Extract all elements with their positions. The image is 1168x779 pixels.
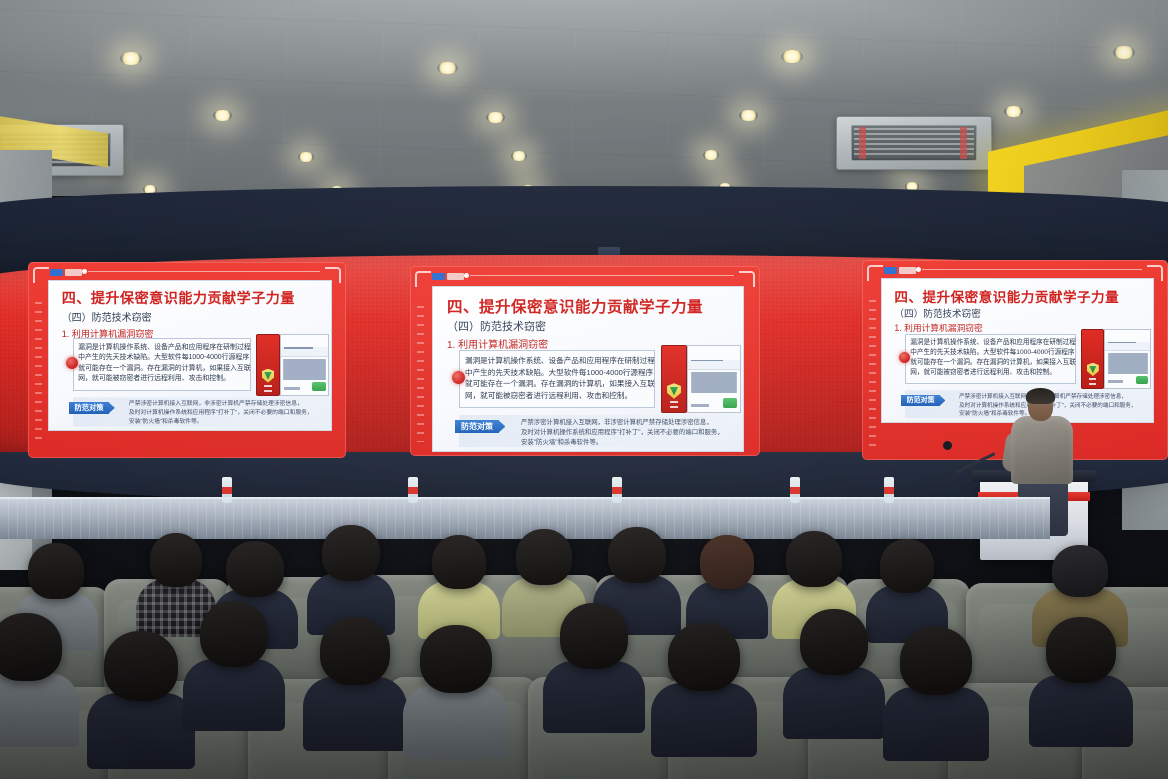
poster-text-lines — [1089, 378, 1096, 385]
security-shield-poster — [661, 345, 687, 413]
audience-seating — [0, 505, 1168, 779]
poster-text-lines — [264, 385, 271, 392]
audience-member-head — [0, 613, 62, 681]
slide-body-line: 网，就可能被窃密者进行远程利用、攻击和控制。 — [465, 390, 649, 402]
scan-result-row — [1108, 371, 1149, 374]
window-titlebar — [1105, 342, 1150, 351]
audience-member-head — [700, 535, 754, 589]
recessed-downlight-icon — [739, 110, 758, 121]
window-link[interactable] — [691, 404, 709, 407]
audience-member-head — [900, 627, 972, 695]
audience-member-head — [668, 623, 740, 691]
panel-corner-bracket — [739, 271, 755, 287]
panel-corner-bracket — [33, 267, 49, 283]
slide-panel-center: 四、提升保密意识能力贡献学子力量（四）防范技术窃密1. 利用计算机漏洞窃密漏洞是… — [410, 266, 760, 456]
lecture-hall-scene: 四、提升保密意识能力贡献学子力量（四）防范技术窃密1. 利用计算机漏洞窃密漏洞是… — [0, 0, 1168, 779]
presenter-torso — [1011, 416, 1073, 484]
countermeasure-line: 安装"防火墙"和杀毒软件等。 — [521, 438, 733, 448]
window-titlebar — [688, 360, 740, 371]
countermeasure-tag: 防范对策 — [455, 420, 499, 433]
audience-member-head — [200, 601, 268, 667]
window-titlebar — [281, 347, 328, 357]
slide-section-heading: 1. 利用计算机漏洞窃密 — [447, 336, 548, 351]
audience-member-head — [104, 631, 178, 701]
recessed-downlight-icon — [120, 52, 142, 65]
fix-now-button[interactable] — [312, 382, 325, 391]
audience-member-torso — [883, 687, 989, 761]
water-bottle — [790, 477, 800, 503]
fix-now-button[interactable] — [723, 398, 738, 408]
panel-side-ticks — [417, 306, 424, 442]
scan-result-row — [283, 377, 325, 380]
countermeasure-band: 严禁涉密计算机接入互联网，非涉密计算机严禁存储处理涉密信息，及时对计算机操作系统… — [459, 415, 739, 447]
recessed-downlight-icon — [437, 62, 458, 74]
slide-body-box: 漏洞是计算机操作系统、设备产品和应用程序在研制过程中产生的先天技术缺陷。大型软件… — [905, 334, 1076, 385]
slide-body-line: 漏洞是计算机操作系统、设备产品和应用程序在研制过程 — [910, 338, 1071, 348]
scan-result-list — [688, 370, 740, 395]
water-bottle — [884, 477, 894, 503]
audience-member-head — [880, 539, 934, 593]
slide-body-line: 网，就可能被窃密者进行远程利用、攻击和控制。 — [78, 374, 245, 384]
fix-now-button[interactable] — [1136, 376, 1149, 385]
panel-badge — [884, 266, 916, 275]
audience-member-head — [322, 525, 380, 581]
slide-body-line: 网，就可能被窃密者进行远程利用、攻击和控制。 — [910, 368, 1071, 378]
presentation-slide: 四、提升保密意识能力贡献学子力量（四）防范技术窃密1. 利用计算机漏洞窃密漏洞是… — [48, 280, 332, 431]
audience-member-torso — [87, 693, 195, 769]
slide-bullet-dot — [452, 371, 465, 384]
audience-member-torso — [783, 667, 885, 739]
window-link[interactable] — [1108, 380, 1123, 383]
security-shield-poster — [256, 334, 280, 396]
recessed-downlight-icon — [511, 151, 527, 161]
slide-body-line: 就可能存在一个漏洞。存在漏洞的计算机，如果接入互联 — [910, 358, 1071, 368]
panel-badge — [432, 272, 464, 281]
audience-member-torso — [543, 661, 645, 733]
slide-panel-left: 四、提升保密意识能力贡献学子力量（四）防范技术窃密1. 利用计算机漏洞窃密漏洞是… — [28, 262, 346, 458]
microphone-capsule-icon — [943, 441, 952, 450]
water-bottle — [222, 477, 232, 503]
recessed-downlight-icon — [213, 110, 232, 121]
panel-side-ticks — [35, 302, 42, 444]
scan-result-row — [691, 390, 738, 393]
presentation-slide: 四、提升保密意识能力贡献学子力量（四）防范技术窃密1. 利用计算机漏洞窃密漏洞是… — [881, 278, 1154, 423]
poster-text-lines — [670, 401, 678, 408]
panel-rule — [470, 275, 734, 276]
audience-member-head — [560, 603, 628, 669]
recessed-downlight-icon — [1113, 46, 1135, 59]
audience-member-head — [150, 533, 202, 587]
vulnerability-scan-window — [1104, 329, 1151, 389]
slide-body-box: 漏洞是计算机操作系统、设备产品和应用程序在研制过程中产生的先天技术缺陷。大型软件… — [459, 350, 655, 408]
scan-result-list — [1105, 351, 1150, 376]
slide-body-line: 中产生的先天技术缺陷。大型软件每1000-4000行源程序 — [910, 348, 1071, 358]
recessed-downlight-icon — [1004, 106, 1023, 117]
window-link[interactable] — [284, 387, 300, 390]
shield-icon — [667, 383, 681, 399]
countermeasure-line: 及时对计算机操作系统和应用程序"打补丁"，关闭不必要的端口和服务， — [521, 428, 733, 438]
audience-member-head — [1046, 617, 1116, 683]
security-shield-poster — [1081, 329, 1104, 389]
countermeasure-band: 严禁涉密计算机接入互联网，非涉密计算机严禁存储处理涉密信息，及时对计算机操作系统… — [73, 397, 327, 426]
slide-body-line: 就可能存在一个漏洞。存在漏洞的计算机，如果接入互联 — [78, 364, 245, 374]
audience-member-torso — [403, 685, 509, 759]
scan-result-list — [281, 357, 328, 382]
vulnerability-scan-window — [687, 345, 741, 413]
slide-body-line: 就可能存在一个漏洞。存在漏洞的计算机，如果接入互联 — [465, 378, 649, 390]
shield-icon — [1087, 363, 1099, 376]
audience-member-head — [786, 531, 842, 587]
panel-side-ticks — [869, 300, 876, 446]
audience-member-head — [1052, 545, 1108, 597]
water-bottle — [408, 477, 418, 503]
shield-icon — [262, 369, 275, 383]
slide-subtitle: （四）防范技术窃密 — [894, 306, 981, 320]
audience-member-torso — [183, 659, 285, 731]
audience-member-head — [226, 541, 284, 597]
audience-member-torso — [303, 677, 407, 751]
recessed-downlight-icon — [298, 152, 314, 162]
slide-title: 四、提升保密意识能力贡献学子力量 — [62, 288, 295, 308]
slide-body-line: 中产生的先天技术缺陷。大型软件每1000-4000行源程序 — [465, 367, 649, 379]
audience-member-head — [420, 625, 492, 693]
slide-body-line: 漏洞是计算机操作系统、设备产品和应用程序在研制过程 — [78, 343, 245, 353]
audience-member-head — [432, 535, 486, 589]
panel-corner-bracket — [415, 271, 431, 287]
slide-subtitle: （四）防范技术窃密 — [447, 318, 546, 334]
slide-title: 四、提升保密意识能力贡献学子力量 — [894, 286, 1119, 306]
audience-member-torso — [651, 683, 757, 757]
ceiling-ac-vent — [836, 116, 992, 170]
slide-body-box: 漏洞是计算机操作系统、设备产品和应用程序在研制过程中产生的先天技术缺陷。大型软件… — [73, 338, 251, 391]
recessed-downlight-icon — [486, 112, 505, 123]
slide-body-line: 漏洞是计算机操作系统、设备产品和应用程序在研制过程 — [465, 355, 649, 367]
panel-rule — [922, 269, 1142, 270]
audience-member-head — [516, 529, 572, 585]
vulnerability-scan-window — [280, 334, 329, 396]
audience-member-head — [800, 609, 868, 675]
recessed-downlight-icon — [703, 150, 719, 160]
audience-member-head — [28, 543, 84, 599]
slide-body-line: 中产生的先天技术缺陷。大型软件每1000-4000行源程序 — [78, 353, 245, 363]
countermeasure-line: 及时对计算机操作系统和应用程序"打补丁"，关闭不必要的端口和服务， — [129, 409, 322, 418]
countermeasure-line: 严禁涉密计算机接入互联网，非涉密计算机严禁存储处理涉密信息， — [521, 418, 733, 428]
vent-indicator — [859, 127, 866, 158]
slide-section-heading: 1. 利用计算机漏洞窃密 — [894, 321, 982, 334]
slide-subtitle: （四）防范技术窃密 — [62, 309, 152, 324]
countermeasure-tag: 防范对策 — [69, 402, 109, 414]
countermeasure-line: 严禁涉密计算机接入互联网，非涉密计算机严禁存储处理涉密信息， — [129, 400, 322, 409]
panel-rule — [88, 271, 320, 272]
water-bottle — [612, 477, 622, 503]
audience-member-head — [320, 617, 390, 685]
presenter-hair — [1026, 388, 1055, 404]
audience-member-head — [608, 527, 666, 583]
vent-indicator — [960, 127, 967, 158]
audience-member-torso — [1029, 675, 1133, 747]
panel-badge — [50, 268, 82, 277]
recessed-downlight-icon — [781, 50, 803, 63]
countermeasure-tag: 防范对策 — [901, 395, 940, 406]
audience-member-torso — [0, 673, 79, 747]
slide-title: 四、提升保密意识能力贡献学子力量 — [447, 295, 703, 317]
presentation-slide: 四、提升保密意识能力贡献学子力量（四）防范技术窃密1. 利用计算机漏洞窃密漏洞是… — [432, 286, 744, 452]
countermeasure-line: 安装"防火墙"和杀毒软件等。 — [129, 418, 322, 427]
